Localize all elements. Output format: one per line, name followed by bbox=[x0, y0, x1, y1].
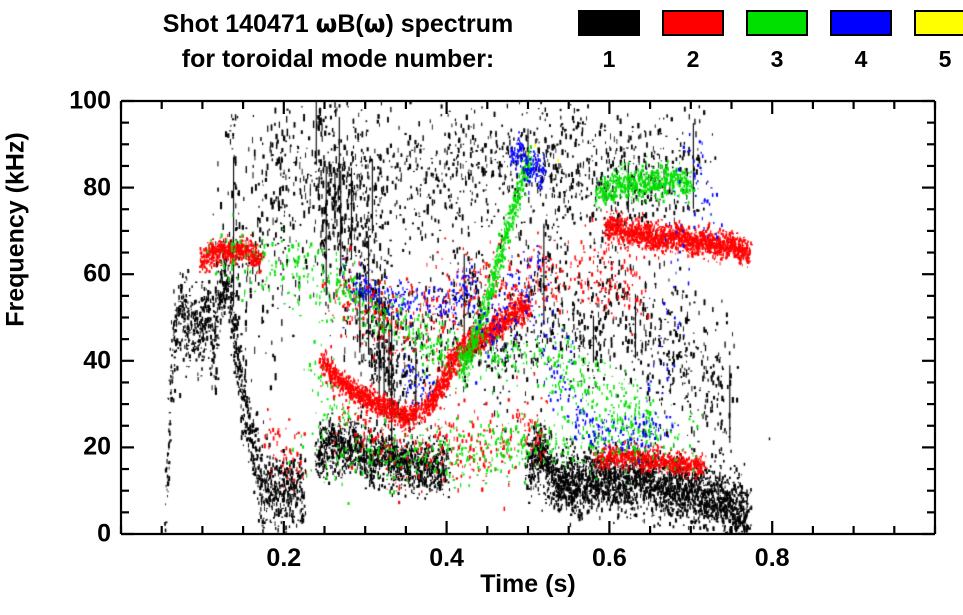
x-tick-label-0.6: 0.6 bbox=[592, 544, 627, 573]
legend-swatch-5 bbox=[914, 10, 963, 36]
legend-swatch-2 bbox=[662, 10, 724, 36]
x-axis-title: Time (s) bbox=[121, 570, 935, 599]
x-tick-label-0.2: 0.2 bbox=[266, 544, 301, 573]
legend-swatch-4 bbox=[830, 10, 892, 36]
title-line-2: for toroidal mode number: bbox=[108, 42, 568, 77]
title-b-open: B( bbox=[337, 10, 363, 38]
plot-area bbox=[121, 101, 935, 534]
y-tick-label-80: 80 bbox=[83, 173, 111, 202]
legend: 1 2 3 4 5 bbox=[578, 10, 963, 72]
y-tick-label-20: 20 bbox=[83, 433, 111, 462]
title-shot-text: Shot 140471 bbox=[163, 10, 316, 38]
y-tick-label-40: 40 bbox=[83, 346, 111, 375]
legend-entry-2: 2 bbox=[662, 10, 724, 72]
spectrogram-figure: Shot 140471 ωB(ω) spectrum for toroidal … bbox=[0, 0, 963, 615]
figure-title: Shot 140471 ωB(ω) spectrum for toroidal … bbox=[108, 6, 568, 77]
legend-entry-5: 5 bbox=[914, 10, 963, 72]
legend-swatch-3 bbox=[746, 10, 808, 36]
y-tick-label-60: 60 bbox=[83, 260, 111, 289]
legend-label-4: 4 bbox=[855, 47, 868, 72]
x-tick-label-0.4: 0.4 bbox=[429, 544, 464, 573]
legend-label-3: 3 bbox=[771, 47, 784, 72]
x-tick-label-0.8: 0.8 bbox=[755, 544, 790, 573]
title-line-1: Shot 140471 ωB(ω) spectrum bbox=[108, 6, 568, 42]
legend-swatch-1 bbox=[578, 10, 640, 36]
legend-label-1: 1 bbox=[603, 47, 616, 72]
omega-symbol-2: ω bbox=[364, 9, 386, 38]
y-tick-label-100: 100 bbox=[69, 87, 111, 116]
legend-label-5: 5 bbox=[939, 47, 952, 72]
title-spectrum-text: ) spectrum bbox=[385, 10, 513, 38]
y-tick-label-0: 0 bbox=[97, 520, 111, 549]
legend-entry-4: 4 bbox=[830, 10, 892, 72]
spectrogram-canvas bbox=[121, 101, 935, 534]
y-axis-title: Frequency (kHz) bbox=[2, 20, 31, 440]
legend-entry-1: 1 bbox=[578, 10, 640, 72]
omega-symbol-1: ω bbox=[316, 9, 338, 38]
legend-entry-3: 3 bbox=[746, 10, 808, 72]
legend-label-2: 2 bbox=[687, 47, 700, 72]
